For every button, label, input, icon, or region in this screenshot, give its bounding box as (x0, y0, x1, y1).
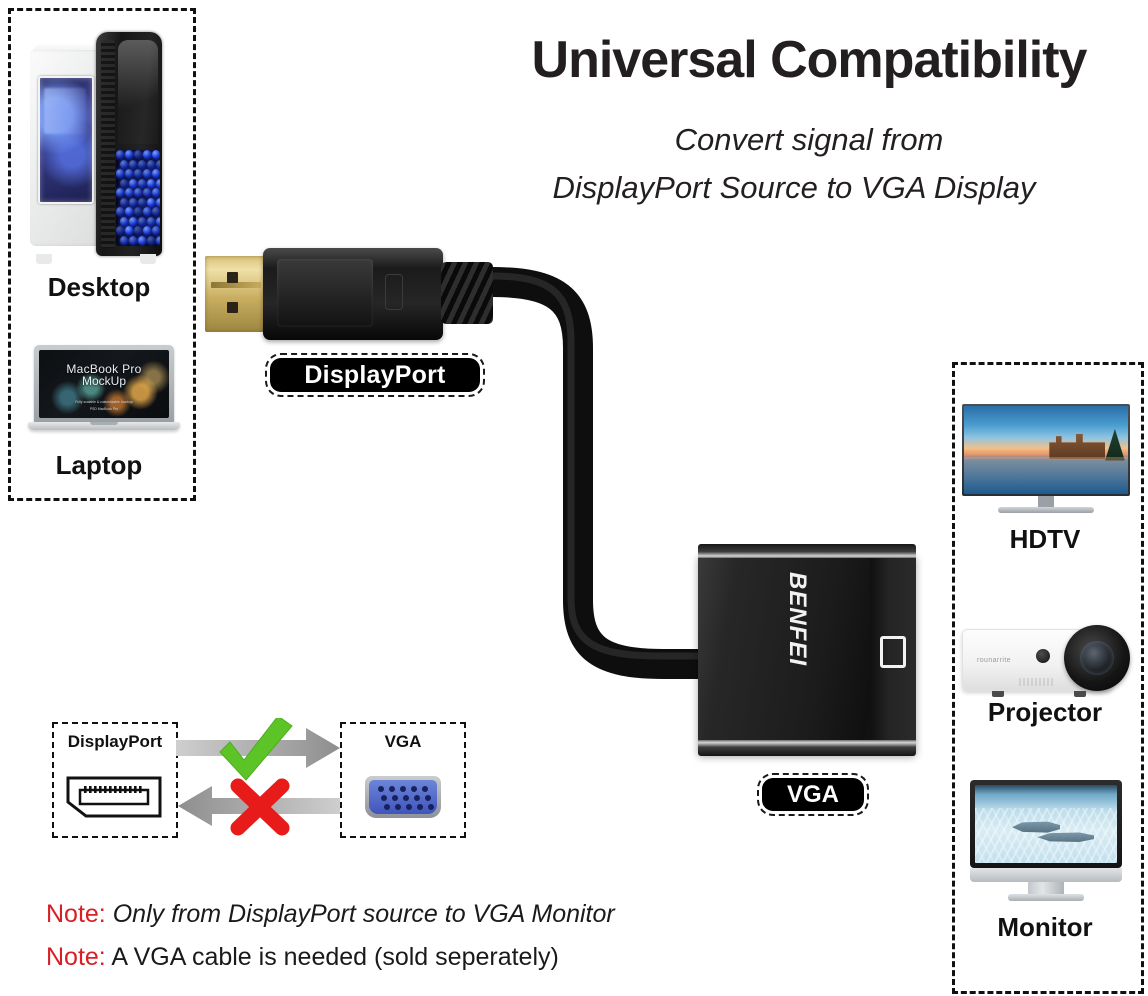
monitor-icon (962, 780, 1130, 906)
benfei-brand-text: BENFEI (780, 560, 814, 678)
page-title: Universal Compatibility (470, 30, 1148, 90)
displayport-socket-icon (66, 776, 162, 818)
subtitle-line-2: DisplayPort Source to VGA Display (440, 170, 1148, 206)
projector-caption: Projector (952, 697, 1138, 728)
desktop-caption: Desktop (8, 272, 190, 303)
note-label: Note: (46, 900, 106, 928)
vga-connector-icon (365, 776, 441, 818)
laptop-screen-filename: PSD MacBook Pro (39, 407, 169, 411)
projector-icon: rounarrite (962, 625, 1130, 707)
note-text: Only from DisplayPort source to VGA Moni… (113, 900, 615, 928)
compat-source-label: DisplayPort (54, 732, 176, 752)
laptop-screen-subtitle: MockUp (39, 374, 169, 388)
note-text: A VGA cable is needed (sold seperately) (111, 943, 559, 971)
displayport-connector (205, 240, 505, 348)
laptop-icon: MacBook Pro MockUp Fully scalable & cust… (28, 345, 180, 441)
note-row-1: Note: Only from DisplayPort source to VG… (46, 900, 615, 929)
displayport-label-tag: DisplayPort (270, 358, 480, 392)
compat-source-box: DisplayPort (52, 722, 178, 838)
note-row-2: Note: A VGA cable is needed (sold sepera… (46, 943, 559, 972)
laptop-screen-note: Fully scalable & customizable mockup (39, 400, 169, 404)
projector-brand: rounarrite (977, 657, 1011, 664)
television-icon (962, 404, 1130, 516)
compat-target-box: VGA (340, 722, 466, 838)
desktop-tower-icon (22, 28, 178, 266)
subtitle-line-1: Convert signal from (470, 122, 1148, 158)
monitor-caption: Monitor (952, 912, 1138, 943)
hdtv-caption: HDTV (952, 524, 1138, 555)
vga-label-tag: VGA (762, 778, 864, 811)
laptop-caption: Laptop (8, 450, 190, 481)
note-label: Note: (46, 943, 106, 971)
direction-arrows (174, 718, 344, 844)
compatibility-diagram: DisplayPort (48, 718, 468, 848)
compat-target-label: VGA (342, 732, 464, 752)
vga-adapter-body: BENFEI (698, 544, 916, 764)
display-rectangle-icon (880, 636, 906, 668)
